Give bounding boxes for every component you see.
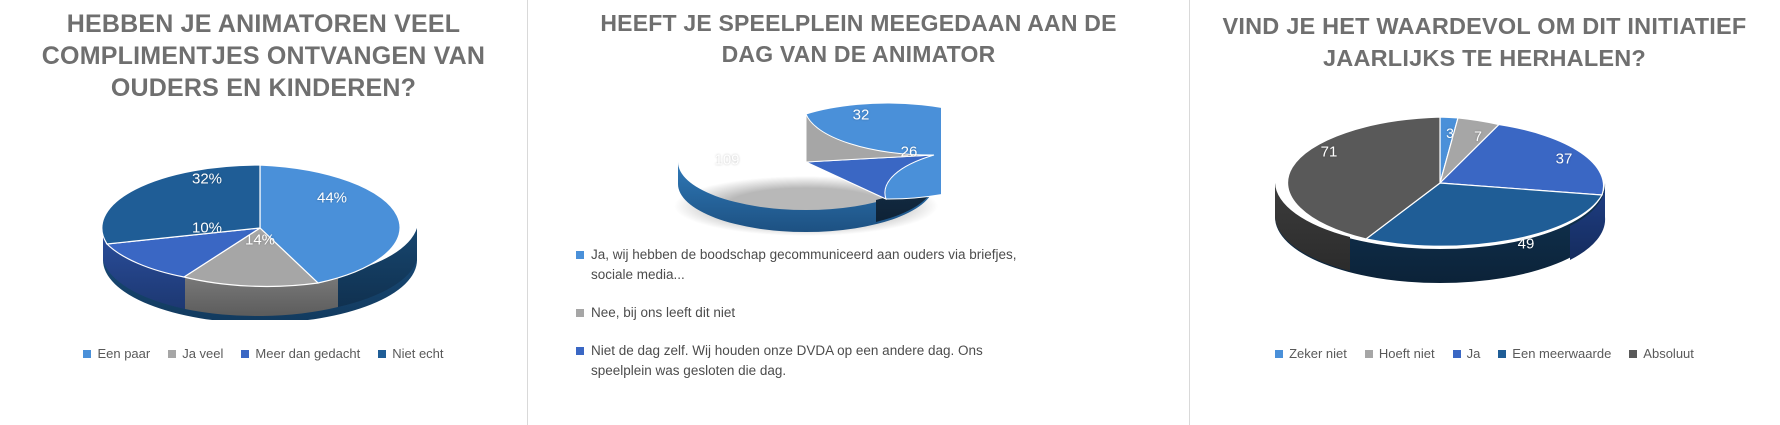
legend-swatch-icon [1365, 350, 1373, 358]
legend-swatch-icon [168, 350, 176, 358]
legend-label: Hoeft niet [1379, 346, 1435, 361]
pie-chart-waardevol: 3 7 37 49 71 [1189, 85, 1740, 325]
legend-item[interactable]: Een paar [83, 346, 150, 361]
legend-label: Nee, bij ons leeft dit niet [591, 303, 735, 323]
legend-label: Een paar [97, 346, 150, 361]
legend-item[interactable]: Hoeft niet [1365, 346, 1435, 361]
legend-swatch-icon [576, 251, 584, 259]
chart-title-dag-van-de-animator: HEEFT JE SPEELPLEIN MEEGEDAAN AAN DE DAG… [528, 0, 1189, 70]
chart-panel-waardevol: VIND JE HET WAARDEVOL OM DIT INITIATIEF … [1189, 0, 1779, 425]
pie-svg-waardevol [1189, 85, 1740, 325]
legend-item[interactable]: Meer dan gedacht [241, 346, 360, 361]
legend-item[interactable]: Niet echt [378, 346, 443, 361]
legend-waardevol: Zeker niet Hoeft niet Ja Een meerwaarde … [1190, 346, 1779, 361]
legend-label: Ja veel [182, 346, 223, 361]
legend-label: Niet echt [392, 346, 443, 361]
chart-title-complimentjes: HEBBEN JE ANIMATOREN VEEL COMPLIMENTJES … [0, 0, 527, 104]
legend-complimentjes: Een paar Ja veel Meer dan gedacht Niet e… [0, 346, 527, 361]
pie-chart-dag-van-de-animator: 109 32 26 [671, 88, 941, 243]
legend-item[interactable]: Absoluut [1629, 346, 1694, 361]
pie-svg-dag-van-de-animator [671, 88, 941, 243]
legend-item[interactable]: Ja [1453, 346, 1481, 361]
legend-swatch-icon [1453, 350, 1461, 358]
legend-label: Ja [1467, 346, 1481, 361]
legend-swatch-icon [1275, 350, 1283, 358]
legend-swatch-icon [1498, 350, 1506, 358]
legend-swatch-icon [1629, 350, 1637, 358]
pie-svg-complimentjes [95, 120, 425, 320]
pie-chart-complimentjes: 44% 14% 10% 32% [95, 120, 425, 320]
legend-label: Zeker niet [1289, 346, 1347, 361]
legend-item[interactable]: Zeker niet [1275, 346, 1347, 361]
legend-label: Niet de dag zelf. Wij houden onze DVDA o… [591, 341, 1046, 381]
legend-dag-van-de-animator: Ja, wij hebben de boodschap gecommunicee… [576, 245, 1046, 381]
legend-swatch-icon [576, 309, 584, 317]
legend-label: Absoluut [1643, 346, 1694, 361]
legend-swatch-icon [241, 350, 249, 358]
legend-item[interactable]: Ja veel [168, 346, 223, 361]
legend-swatch-icon [83, 350, 91, 358]
legend-item[interactable]: Een meerwaarde [1498, 346, 1611, 361]
legend-swatch-icon [378, 350, 386, 358]
legend-label: Ja, wij hebben de boodschap gecommunicee… [591, 245, 1046, 285]
legend-label: Een meerwaarde [1512, 346, 1611, 361]
legend-item[interactable]: Ja, wij hebben de boodschap gecommunicee… [576, 245, 1046, 285]
chart-panel-complimentjes: HEBBEN JE ANIMATOREN VEEL COMPLIMENTJES … [0, 0, 527, 425]
charts-board: HEBBEN JE ANIMATOREN VEEL COMPLIMENTJES … [0, 0, 1780, 425]
chart-title-waardevol: VIND JE HET WAARDEVOL OM DIT INITIATIEF … [1190, 0, 1779, 74]
legend-item[interactable]: Nee, bij ons leeft dit niet [576, 303, 735, 323]
chart-panel-dag-van-de-animator: HEEFT JE SPEELPLEIN MEEGEDAAN AAN DE DAG… [527, 0, 1189, 425]
legend-item[interactable]: Niet de dag zelf. Wij houden onze DVDA o… [576, 341, 1046, 381]
legend-label: Meer dan gedacht [255, 346, 360, 361]
legend-swatch-icon [576, 347, 584, 355]
